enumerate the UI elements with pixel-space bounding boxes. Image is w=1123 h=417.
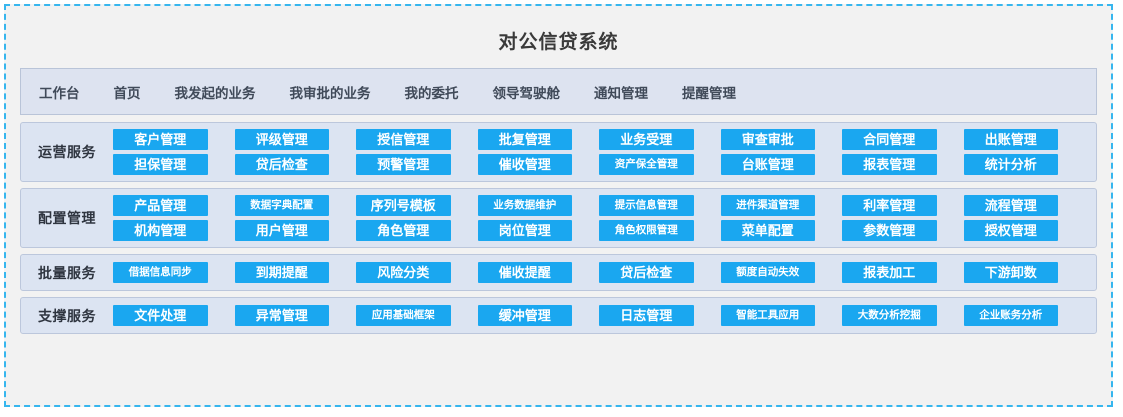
module-button[interactable]: 合同管理 <box>842 129 937 150</box>
module-button[interactable]: 日志管理 <box>599 305 694 326</box>
nav-item[interactable]: 首页 <box>114 82 141 102</box>
nav-item[interactable]: 提醒管理 <box>682 82 736 102</box>
module-button[interactable]: 报表管理 <box>842 154 937 175</box>
module-button[interactable]: 异常管理 <box>235 305 330 326</box>
module-button-grid: 客户管理评级管理授信管理批复管理业务受理审查审批合同管理出账管理担保管理贷后检查… <box>113 129 1096 175</box>
module-button[interactable]: 数据字典配置 <box>235 195 330 216</box>
nav-item[interactable]: 领导驾驶舱 <box>493 82 561 102</box>
title-bar: 对公信贷系统 <box>12 12 1105 68</box>
module-button[interactable]: 文件处理 <box>113 305 208 326</box>
module-button[interactable]: 报表加工 <box>842 262 937 283</box>
module-button[interactable]: 出账管理 <box>964 129 1059 150</box>
module-button[interactable]: 机构管理 <box>113 220 208 241</box>
module-button[interactable]: 大数分析挖掘 <box>842 305 937 326</box>
module-button[interactable]: 借据信息同步 <box>113 262 208 283</box>
module-button[interactable]: 角色权限管理 <box>599 220 694 241</box>
module-button[interactable]: 参数管理 <box>842 220 937 241</box>
module-button[interactable]: 贷后检查 <box>235 154 330 175</box>
module-button[interactable]: 业务受理 <box>599 129 694 150</box>
module-button[interactable]: 菜单配置 <box>721 220 816 241</box>
module-button[interactable]: 客户管理 <box>113 129 208 150</box>
module-button[interactable]: 批复管理 <box>478 129 573 150</box>
module-button[interactable]: 企业账务分析 <box>964 305 1059 326</box>
application-content: 对公信贷系统 工作台首页我发起的业务我审批的业务我的委托领导驾驶舱通知管理提醒管… <box>12 12 1105 399</box>
module-button[interactable]: 审查审批 <box>721 129 816 150</box>
module-button[interactable]: 催收提醒 <box>478 262 573 283</box>
section-label: 支撑服务 <box>21 306 113 326</box>
main-navigation: 工作台首页我发起的业务我审批的业务我的委托领导驾驶舱通知管理提醒管理 <box>20 68 1097 115</box>
module-button[interactable]: 授信管理 <box>356 129 451 150</box>
module-button[interactable]: 评级管理 <box>235 129 330 150</box>
module-button-grid: 产品管理数据字典配置序列号模板业务数据维护提示信息管理进件渠道管理利率管理流程管… <box>113 195 1096 241</box>
module-button[interactable]: 用户管理 <box>235 220 330 241</box>
module-section: 运营服务客户管理评级管理授信管理批复管理业务受理审查审批合同管理出账管理担保管理… <box>20 122 1097 182</box>
section-label: 批量服务 <box>21 263 113 283</box>
module-button[interactable]: 进件渠道管理 <box>721 195 816 216</box>
module-button[interactable]: 下游卸数 <box>964 262 1059 283</box>
module-button[interactable]: 台账管理 <box>721 154 816 175</box>
module-button-grid: 文件处理异常管理应用基础框架缓冲管理日志管理智能工具应用大数分析挖掘企业账务分析 <box>113 305 1096 326</box>
module-button[interactable]: 智能工具应用 <box>721 305 816 326</box>
module-button[interactable]: 业务数据维护 <box>478 195 573 216</box>
module-button[interactable]: 资产保全管理 <box>599 154 694 175</box>
module-button[interactable]: 角色管理 <box>356 220 451 241</box>
section-label: 运营服务 <box>21 142 113 162</box>
module-button[interactable]: 到期提醒 <box>235 262 330 283</box>
module-button[interactable]: 贷后检查 <box>599 262 694 283</box>
module-button[interactable]: 统计分析 <box>964 154 1059 175</box>
module-button[interactable]: 催收管理 <box>478 154 573 175</box>
module-button[interactable]: 利率管理 <box>842 195 937 216</box>
module-section: 支撑服务文件处理异常管理应用基础框架缓冲管理日志管理智能工具应用大数分析挖掘企业… <box>20 297 1097 334</box>
application-window: 对公信贷系统 工作台首页我发起的业务我审批的业务我的委托领导驾驶舱通知管理提醒管… <box>4 4 1113 407</box>
module-button[interactable]: 提示信息管理 <box>599 195 694 216</box>
nav-item[interactable]: 通知管理 <box>594 82 648 102</box>
module-section: 批量服务借据信息同步到期提醒风险分类催收提醒贷后检查额度自动失效报表加工下游卸数 <box>20 254 1097 291</box>
nav-item[interactable]: 我审批的业务 <box>290 82 371 102</box>
nav-item[interactable]: 我的委托 <box>405 82 459 102</box>
module-button[interactable]: 缓冲管理 <box>478 305 573 326</box>
module-button[interactable]: 应用基础框架 <box>356 305 451 326</box>
module-button[interactable]: 额度自动失效 <box>721 262 816 283</box>
module-button[interactable]: 预警管理 <box>356 154 451 175</box>
section-label: 配置管理 <box>21 208 113 228</box>
module-section: 配置管理产品管理数据字典配置序列号模板业务数据维护提示信息管理进件渠道管理利率管… <box>20 188 1097 248</box>
module-button[interactable]: 流程管理 <box>964 195 1059 216</box>
nav-item[interactable]: 工作台 <box>39 82 80 102</box>
module-button[interactable]: 担保管理 <box>113 154 208 175</box>
module-button[interactable]: 岗位管理 <box>478 220 573 241</box>
nav-item[interactable]: 我发起的业务 <box>175 82 256 102</box>
module-button[interactable]: 授权管理 <box>964 220 1059 241</box>
module-button-grid: 借据信息同步到期提醒风险分类催收提醒贷后检查额度自动失效报表加工下游卸数 <box>113 262 1096 283</box>
module-button[interactable]: 产品管理 <box>113 195 208 216</box>
module-button[interactable]: 风险分类 <box>356 262 451 283</box>
page-title: 对公信贷系统 <box>498 27 618 54</box>
module-sections: 运营服务客户管理评级管理授信管理批复管理业务受理审查审批合同管理出账管理担保管理… <box>12 122 1105 334</box>
module-button[interactable]: 序列号模板 <box>356 195 451 216</box>
